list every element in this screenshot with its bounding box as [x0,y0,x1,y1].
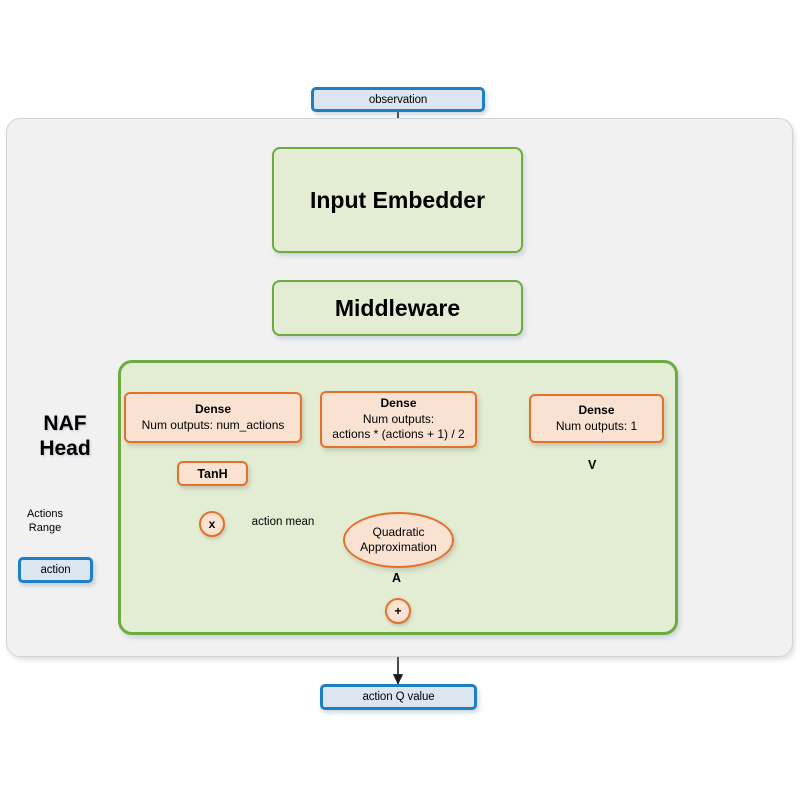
action-q-value-label: action Q value [362,691,434,703]
value-edge-label: V [588,458,610,472]
dense-left-block[interactable]: Dense Num outputs: num_actions [124,392,302,443]
value-text: V [588,458,596,472]
input-embedder-label: Input Embedder [310,187,485,214]
add-operator[interactable]: + [385,598,411,624]
actions-range-line1: Actions [12,507,78,521]
multiply-symbol: x [209,517,216,531]
actions-range-line2: Range [12,521,78,535]
dense-right-block[interactable]: Dense Num outputs: 1 [529,394,664,443]
naf-head-title-line1: NAF [22,412,108,437]
input-embedder-block[interactable]: Input Embedder [272,147,523,253]
action-input-box[interactable]: action [18,557,93,583]
dense-mid-block[interactable]: Dense Num outputs: actions * (actions + … [320,391,477,448]
dense-right-title: Dense [578,403,614,418]
dense-left-subtitle: Num outputs: num_actions [142,418,285,433]
tanh-activation-block[interactable]: TanH [177,461,248,486]
quadratic-approximation-line1: Quadratic [372,525,424,540]
action-mean-text: action mean [252,516,315,528]
observation-label: observation [369,94,427,106]
dense-left-title: Dense [195,402,231,417]
dense-mid-subtitle-line2: actions * (actions + 1) / 2 [332,427,464,442]
naf-head-architecture-diagram: NAF Head observation action action Q val… [0,0,800,800]
action-q-value-output-box[interactable]: action Q value [320,684,477,710]
quadratic-approximation-node[interactable]: Quadratic Approximation [343,512,454,568]
add-symbol: + [394,604,401,618]
action-mean-edge-label: action mean [240,516,326,528]
naf-head-title: NAF Head [22,412,108,462]
tanh-label: TanH [197,466,227,482]
dense-mid-title: Dense [380,396,416,411]
advantage-edge-label: A [392,571,414,585]
middleware-block[interactable]: Middleware [272,280,523,336]
multiply-operator[interactable]: x [199,511,225,537]
dense-right-subtitle: Num outputs: 1 [556,419,637,434]
dense-mid-subtitle-line1: Num outputs: [363,412,434,427]
observation-input-box[interactable]: observation [311,87,485,112]
middleware-label: Middleware [335,295,460,322]
naf-head-title-line2: Head [22,437,108,462]
action-label: action [40,564,70,576]
advantage-text: A [392,571,401,585]
actions-range-label: Actions Range [12,507,78,536]
quadratic-approximation-line2: Approximation [360,540,437,555]
